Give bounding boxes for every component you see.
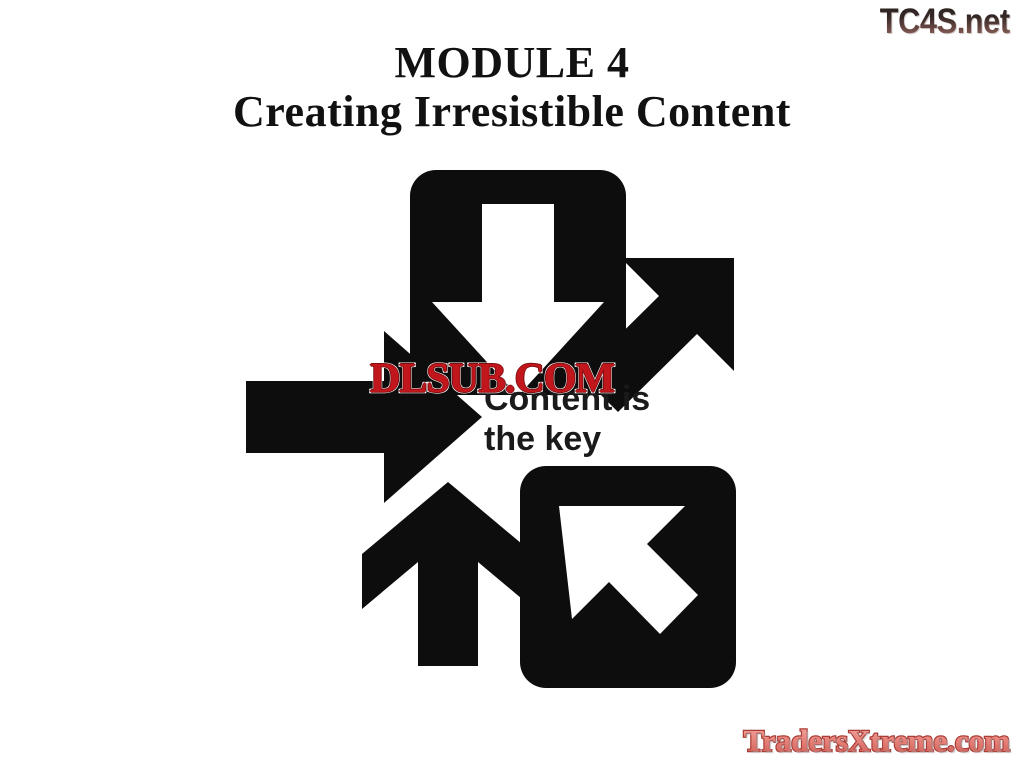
diagonal-up-left-arrow-tile: [520, 466, 736, 688]
graphic-caption-line2: the key: [484, 420, 601, 458]
dlsub-watermark: DLSUB.COM: [370, 358, 614, 400]
page-title: MODULE 4 Creating Irresistible Content: [0, 38, 1024, 137]
slide-canvas: TC4S.net TC4S.net MODULE 4 Creating Irre…: [0, 0, 1024, 768]
title-line-subtitle: Creating Irresistible Content: [0, 87, 1024, 136]
title-line-module: MODULE 4: [0, 38, 1024, 87]
tc4s-brand-watermark: TC4S.net: [880, 4, 1010, 39]
tradersxtreme-brand-watermark: TradersXtreme.com: [743, 725, 1010, 756]
content-is-the-key-graphic: Content is the key: [232, 158, 802, 698]
up-arrow: [362, 482, 534, 666]
